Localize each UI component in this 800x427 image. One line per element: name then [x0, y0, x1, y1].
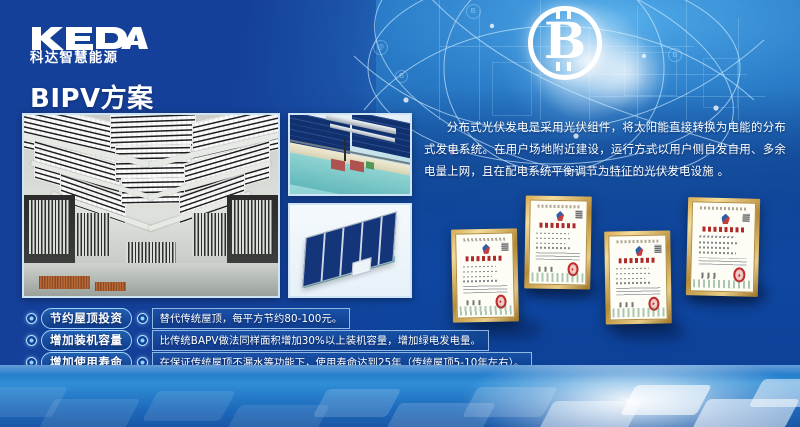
patent-emblem-icon: [635, 246, 643, 256]
bullet-dot-icon: [26, 335, 37, 346]
certificate-body: [608, 235, 667, 321]
floor-tile-decoration: [0, 365, 800, 427]
certificate-guilloche: [460, 306, 512, 315]
certificate-card[interactable]: [451, 228, 519, 322]
certificate-card[interactable]: [524, 195, 592, 289]
feature-row: 增加装机容量 比传统BAPV做法同样面积增加30%以上装机容量，增加绿电发电量。: [26, 329, 446, 351]
certificate-header-line: [463, 238, 506, 241]
photo-atrium: [22, 113, 280, 298]
bullet-dot-icon: [137, 335, 148, 346]
certificate-body: [455, 232, 515, 318]
keda-wordmark-icon: [30, 25, 148, 51]
certificate-card[interactable]: [604, 230, 672, 324]
brand-logo: 科达智慧能源: [30, 25, 150, 66]
feature-row: 节约屋顶投资 替代传统屋顶，每平方节约80-100元。: [26, 307, 446, 329]
brand-name-cn: 科达智慧能源: [30, 52, 150, 66]
photo-mount-detail: [288, 113, 412, 196]
feature-list: 节约屋顶投资 替代传统屋顶，每平方节约80-100元。 增加装机容量 比传统BA…: [26, 307, 446, 373]
certificate-card[interactable]: [686, 197, 760, 297]
certificate-title-text: [466, 256, 504, 261]
certificate-paragraph: [463, 285, 507, 293]
certificate-signature: [466, 300, 481, 306]
intro-paragraph: 分布式光伏发电是采用光伏组件，将太阳能直接转换为电能的分布式发电系统。在用户场地…: [424, 116, 786, 183]
mounting-illustration: [290, 115, 410, 194]
certificate-body: [690, 201, 756, 293]
array-plate: [303, 211, 398, 287]
patent-emblem-icon: [721, 213, 730, 224]
page-title: BIPV方案: [30, 78, 154, 115]
photo-panel-array: [288, 203, 412, 298]
qr-code-icon: [655, 245, 661, 253]
bullet-dot-icon: [137, 313, 148, 324]
bullet-dot-icon: [26, 313, 37, 324]
feature-label: 增加装机容量: [41, 330, 132, 351]
panel-array-illustration: [290, 205, 410, 296]
bitcoin-icon: B: [528, 6, 602, 80]
patent-emblem-icon: [482, 244, 490, 254]
qr-code-icon: [576, 210, 582, 218]
feature-desc: 替代传统屋顶，每平方节约80-100元。: [152, 308, 351, 329]
poster-canvas: B B B @ 科达: [0, 0, 800, 427]
qr-code-icon: [502, 243, 508, 251]
bitcoin-glyph: B: [544, 16, 586, 66]
atrium-illustration: [24, 115, 278, 296]
feature-label: 节约屋顶投资: [41, 308, 132, 329]
patent-emblem-icon: [556, 211, 564, 221]
feature-desc: 比传统BAPV做法同样面积增加30%以上装机容量，增加绿电发电量。: [152, 330, 489, 351]
qr-code-icon: [743, 213, 750, 222]
certificate-body: [528, 200, 587, 286]
